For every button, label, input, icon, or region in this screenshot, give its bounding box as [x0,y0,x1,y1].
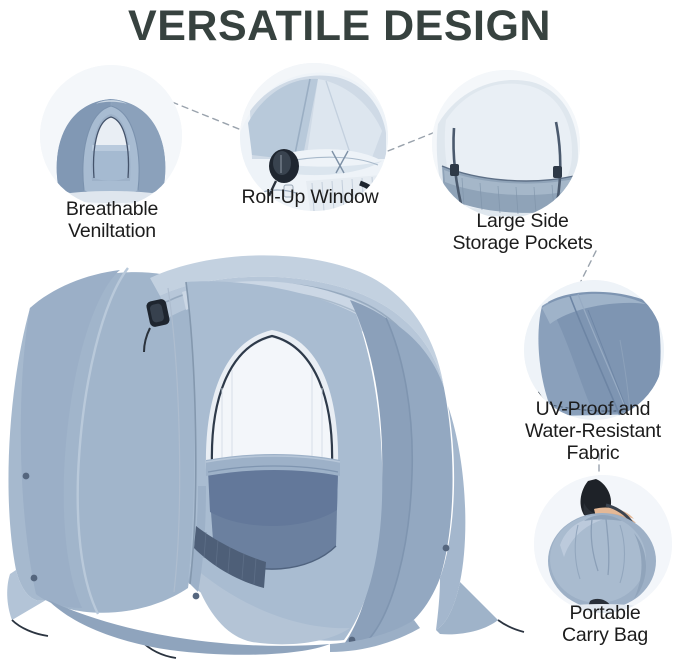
callout-large-side-storage-pockets [432,70,580,218]
main-product-image [0,248,560,661]
pop-up-tent-illustration [0,248,560,661]
feature-label-roll-up-window: Roll-Up Window [205,186,415,208]
infographic-page: VERSATILE DESIGN [0,0,679,661]
callout-breathable-ventilation [40,65,182,207]
breathable-ventilation-image [40,65,182,207]
feature-label-breathable-ventilation: Breathable Veniltation [22,198,202,242]
page-title: VERSATILE DESIGN [0,2,679,51]
storage-pocket-image [432,70,580,218]
